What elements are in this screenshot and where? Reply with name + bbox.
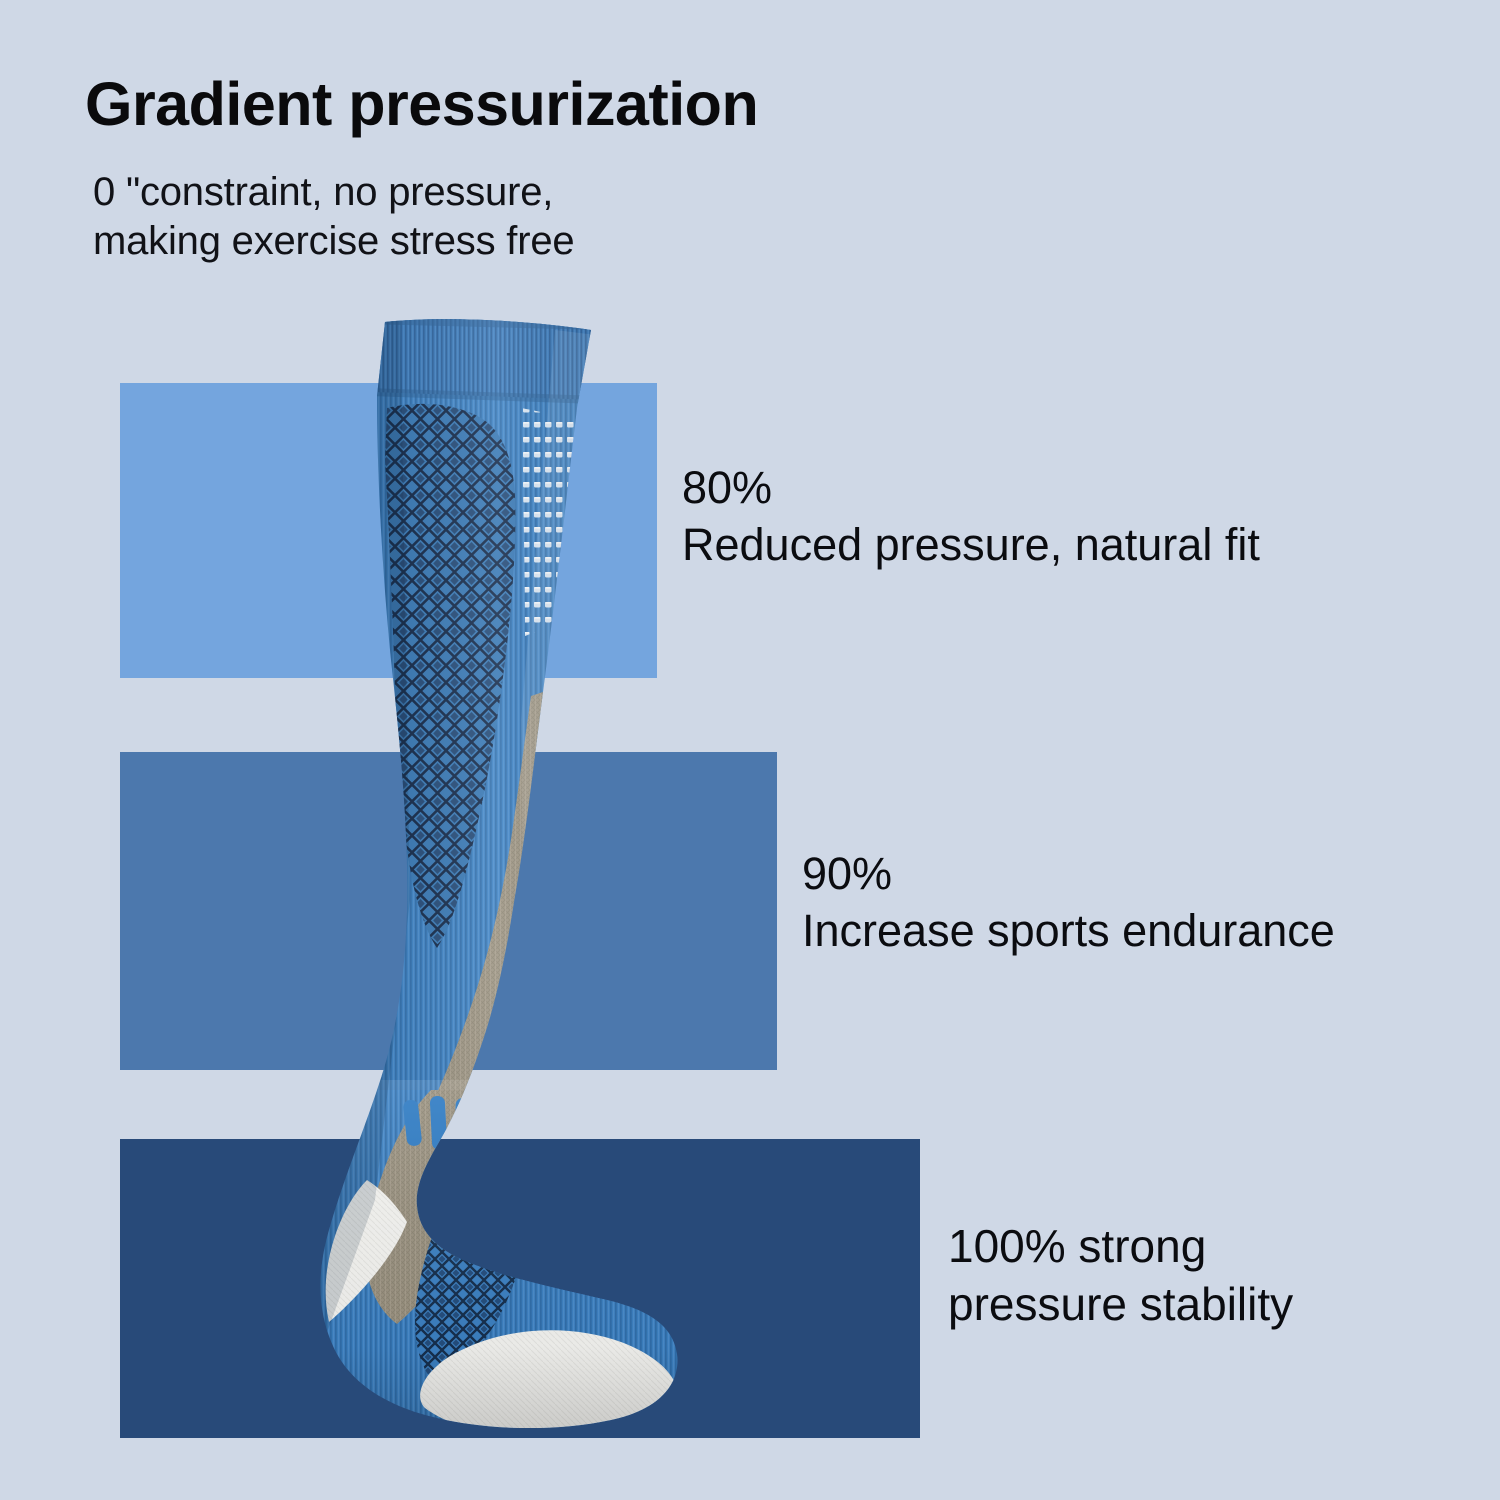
compression-sock-image [225,300,695,1460]
feature-description: Reduced pressure, natural fit [682,517,1260,574]
sock-body [225,300,695,1460]
leg-shading [225,300,695,1090]
feature-label-100: 100% strong pressure stability [948,1218,1293,1334]
feature-description: pressure stability [948,1276,1293,1334]
feature-label-90: 90% Increase sports endurance [802,846,1335,959]
page-subtitle: 0 "constraint, no pressure, making exerc… [93,168,574,266]
feature-percent: 90% [802,846,1335,903]
feature-label-80: 80% Reduced pressure, natural fit [682,460,1260,573]
foot-shading [225,1080,695,1460]
infographic-canvas: Gradient pressurization 0 "constraint, n… [0,0,1500,1500]
feature-description: Increase sports endurance [802,903,1335,960]
feature-percent: 100% strong [948,1218,1293,1276]
feature-percent: 80% [682,460,1260,517]
page-title: Gradient pressurization [85,72,758,136]
